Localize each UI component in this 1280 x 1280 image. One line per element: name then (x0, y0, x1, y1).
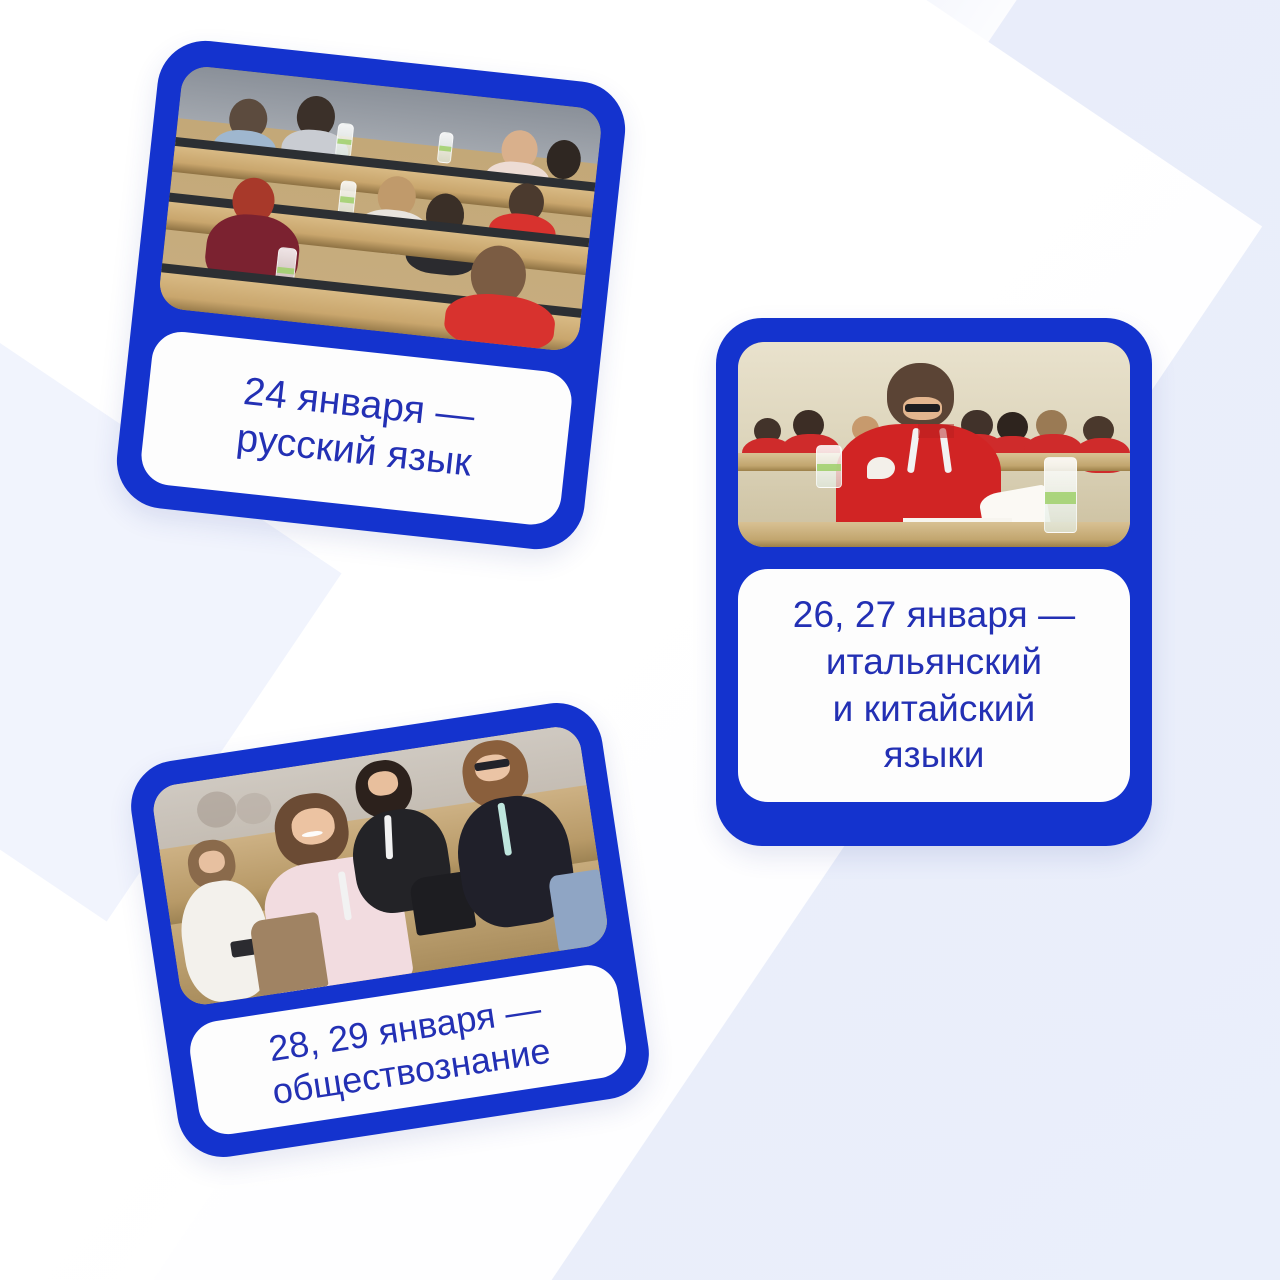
caption-line-2: итальянский (793, 639, 1075, 686)
poster-stage: 24 января — русский язык (0, 0, 1280, 1280)
caption-russian-language: 24 января — русский язык (138, 329, 574, 528)
caption-italian-chinese-languages: 26, 27 января — итальянский и китайский … (738, 569, 1130, 802)
card-italian-chinese-languages[interactable]: 26, 27 января — итальянский и китайский … (716, 318, 1152, 846)
caption-line-1: 26, 27 января — (793, 592, 1075, 639)
card-social-studies[interactable]: 28, 29 января — обществознание (125, 697, 655, 1164)
photo-exam-red-shirts (738, 342, 1130, 547)
photo-students-group (150, 724, 610, 1008)
caption-line-3: и китайский (793, 686, 1075, 733)
card-russian-language[interactable]: 24 января — русский язык (112, 36, 630, 554)
photo-lecture-hall (157, 64, 603, 352)
caption-line-4: языки (793, 732, 1075, 779)
